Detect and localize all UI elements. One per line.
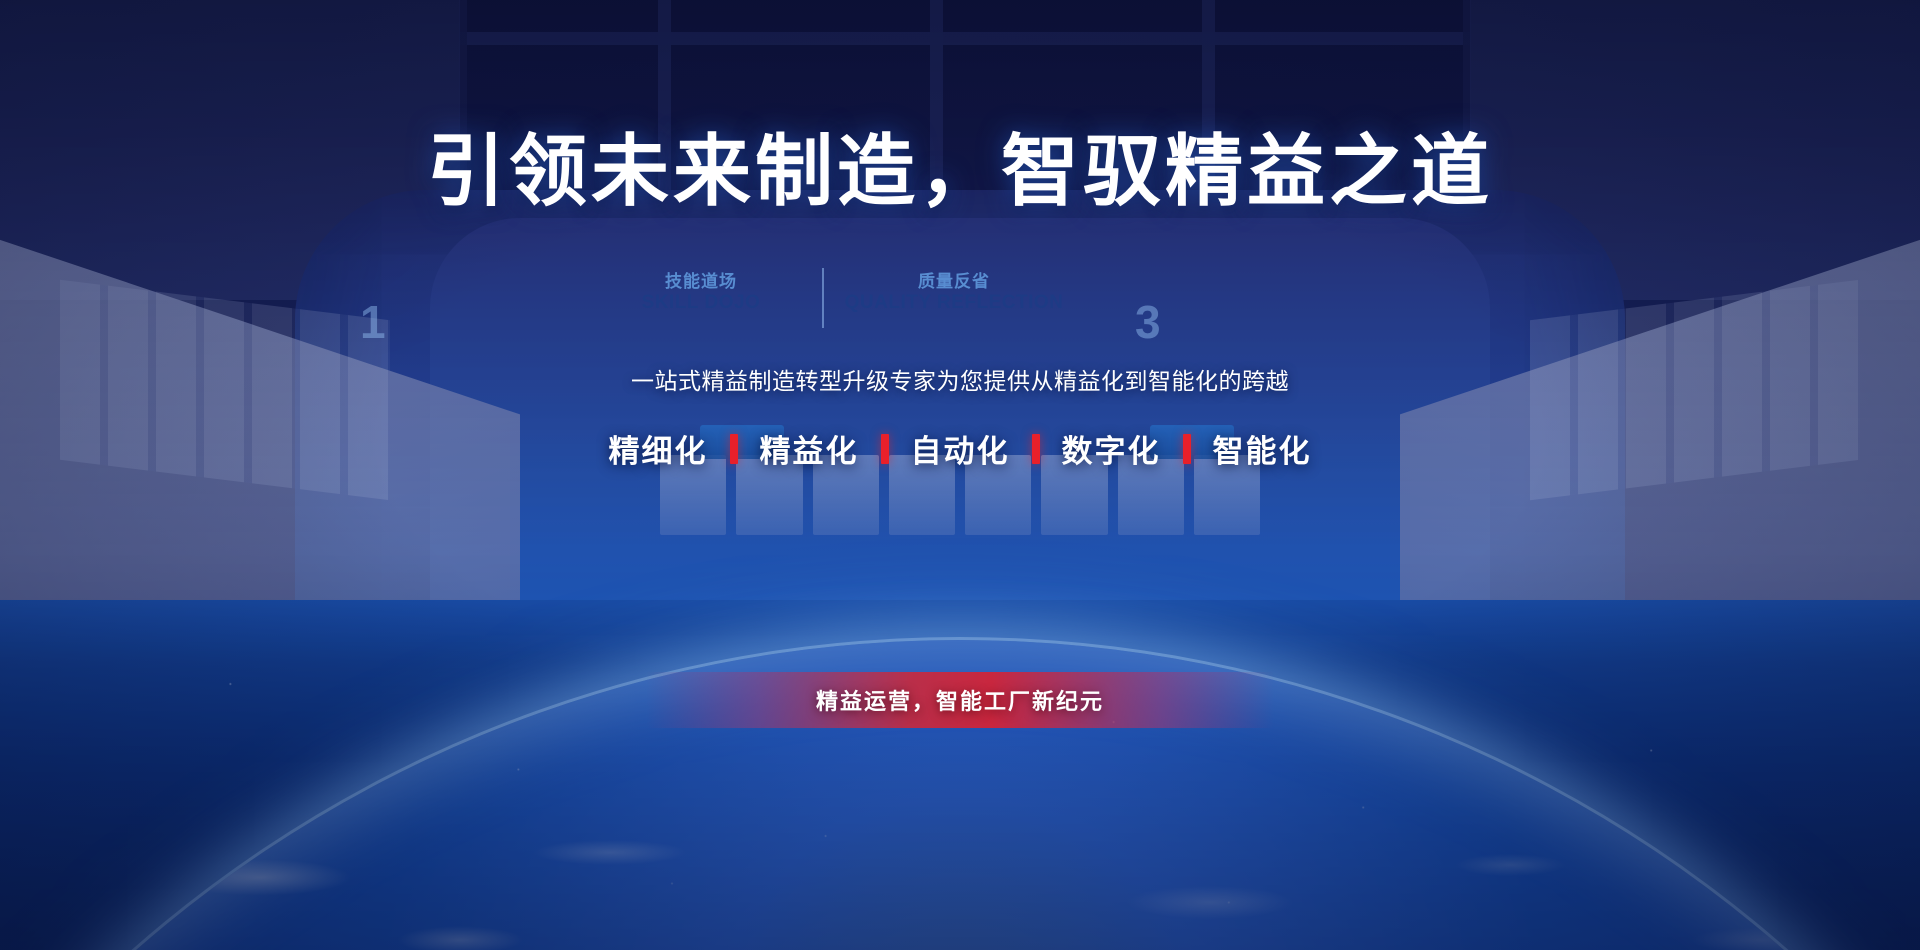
hero-banner-stage: 1 3 技能道场 SKILL DOJO 质量反省 QUALITY REFLECT… (0, 0, 1920, 950)
page-title: 引领未来制造，智驭精益之道 (0, 132, 1920, 210)
keyword-item: 数字化 (1040, 426, 1183, 471)
hero-subtitle: 一站式精益制造转型升级专家为您提供从精益化到智能化的跨越 (0, 362, 1920, 396)
keyword-divider-icon (881, 434, 889, 464)
keyword-item: 智能化 (1191, 426, 1334, 471)
keyword-item: 自动化 (889, 426, 1032, 471)
keyword-item: 精益化 (738, 426, 881, 471)
keyword-divider-icon (730, 434, 738, 464)
keyword-divider-icon (1183, 434, 1191, 464)
bottom-banner-text: 精益运营，智能工厂新纪元 (816, 684, 1104, 716)
hero-content: 引领未来制造，智驭精益之道 一站式精益制造转型升级专家为您提供从精益化到智能化的… (0, 0, 1920, 950)
keyword-divider-icon (1032, 434, 1040, 464)
bottom-banner: 精益运营，智能工厂新纪元 (646, 672, 1274, 728)
keyword-list: 精细化 精益化 自动化 数字化 智能化 (0, 426, 1920, 471)
keyword-item: 精细化 (587, 426, 730, 471)
